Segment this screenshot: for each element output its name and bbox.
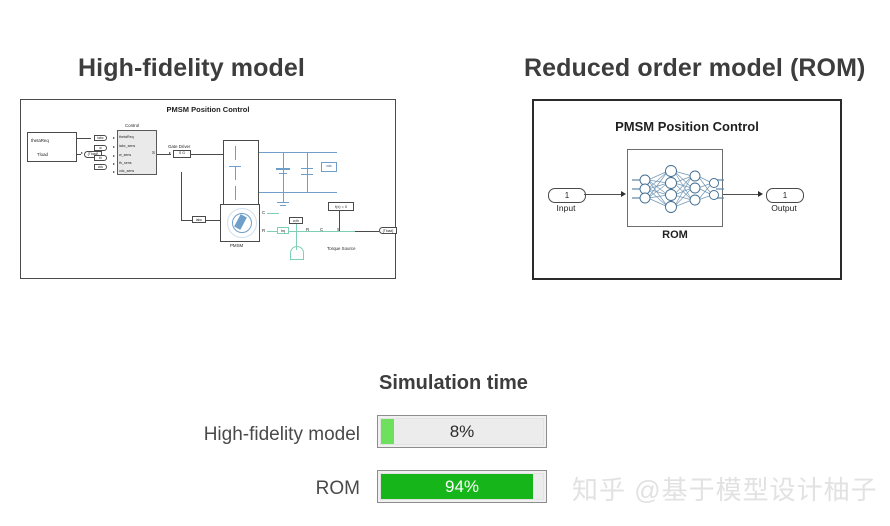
converter-switch-3	[235, 186, 236, 200]
arrow-ctrl-in-4	[113, 163, 115, 165]
progress-track-high-fidelity: 8%	[380, 418, 544, 445]
solver-configuration-block: f(x) = 0	[328, 202, 354, 211]
mechanical-reference	[290, 246, 304, 260]
converter-block	[223, 140, 259, 208]
sim-row-label-high-fidelity: High-fidelity model	[0, 424, 360, 446]
arrow-tload	[81, 152, 83, 154]
from-tag-iabc: iabc	[94, 135, 107, 141]
progress-track-rom: 94%	[380, 473, 544, 500]
from-tag-vdc: vdc	[94, 164, 107, 170]
control-out-label: S	[152, 150, 155, 155]
rom-wire-input	[584, 194, 622, 195]
control-in-label-1: thetaReq	[119, 135, 134, 139]
wire-solver-stem	[339, 211, 340, 231]
arrow-gate-in	[169, 152, 171, 154]
wire-tload	[77, 154, 81, 155]
iabc-tag: iabc	[192, 216, 206, 223]
progress-bar-rom[interactable]: 94%	[377, 470, 547, 503]
input-source-block	[27, 132, 77, 162]
arrow-ctrl-in-2	[113, 146, 115, 148]
wire-pmsm-r	[267, 231, 277, 232]
wire-phase-down	[181, 172, 182, 220]
wire-to-out-tag	[355, 231, 379, 232]
wire-control-to-gate	[157, 154, 171, 155]
dcbus-bottom	[259, 192, 337, 193]
wire-gate-to-converter	[191, 154, 223, 155]
rom-output-port: 1	[766, 188, 804, 203]
progress-value-high-fidelity: 8%	[381, 419, 543, 444]
control-label: Control	[125, 123, 139, 128]
rom-block-label: ROM	[627, 229, 723, 241]
torque-source-label: Torque Source	[327, 246, 355, 251]
control-in-label-5: vdc_sens	[119, 169, 134, 173]
gate-driver-label: Gate Driver	[168, 144, 190, 149]
wire-pmsm-c	[267, 213, 279, 214]
control-in-label-3: w_sens	[119, 153, 131, 157]
progress-bar-high-fidelity[interactable]: 8%	[377, 415, 547, 448]
capacitor-branch	[307, 152, 308, 192]
wire-thetareq	[77, 138, 91, 139]
pmsm-label: PMSM	[230, 243, 243, 248]
control-in-label-2: iabc_sens	[119, 144, 135, 148]
converter-crossbar	[229, 166, 241, 167]
pmsm-port-r: R	[262, 228, 265, 233]
rom-arrow-input	[621, 191, 626, 197]
hifi-diagram-title: PMSM Position Control	[21, 105, 395, 114]
torque-port-c1: C	[320, 227, 323, 232]
high-fidelity-diagram: PMSM Position Control thetaReq Tload {Tl…	[20, 99, 396, 279]
sim-row-label-rom: ROM	[0, 478, 360, 500]
rom-diagram: PMSM Position Control 1 Input	[532, 99, 842, 280]
rom-output-caption: Output	[760, 203, 808, 213]
trq-tag: trq	[277, 227, 289, 234]
simulation-time-heading: Simulation time	[379, 372, 528, 395]
tload-label: Tload	[37, 152, 48, 157]
arrow-ctrl-in-1	[113, 137, 115, 139]
battery-plate-short	[279, 173, 287, 174]
neural-network-icon	[628, 150, 724, 228]
ground-bar-1	[277, 202, 289, 203]
thetareq-label: thetaReq	[31, 138, 49, 143]
watermark: 知乎 @基于模型设计柚子	[572, 470, 878, 507]
converter-switch-2	[235, 166, 236, 180]
pmsm-port-c: C	[262, 210, 265, 215]
dcbus-top	[259, 152, 337, 153]
capacitor-plate-top	[301, 168, 313, 169]
arrow-ctrl-in-3	[113, 155, 115, 157]
wth-tag: w,th	[289, 217, 303, 224]
arrow-ctrl-in-5	[113, 171, 115, 173]
wire-iabc-to-pmsm	[206, 220, 220, 221]
ground-bar-2	[280, 205, 286, 206]
progress-value-rom: 94%	[381, 474, 543, 499]
rom-block	[627, 149, 723, 227]
ground-stem	[283, 192, 284, 202]
rom-input-caption: Input	[542, 203, 590, 213]
rom-input-port: 1	[548, 188, 586, 203]
page-title-high-fidelity: High-fidelity model	[78, 54, 305, 83]
battery-plate-long	[276, 168, 290, 170]
torque-port-r1: R	[306, 227, 309, 232]
control-in-label-4: th_sens	[119, 161, 132, 165]
gate-driver-block: S G	[173, 150, 191, 158]
page-title-reduced-order-model: Reduced order model (ROM)	[524, 54, 865, 83]
from-tag-w: w	[94, 145, 107, 151]
rom-arrow-output	[758, 191, 763, 197]
tload-goto-tag: {Tload}	[379, 227, 397, 234]
from-tag-th: th	[94, 155, 107, 161]
rom-diagram-title: PMSM Position Control	[534, 119, 840, 134]
battery-branch	[283, 152, 284, 192]
rom-wire-output	[723, 194, 759, 195]
converter-switch-1	[235, 146, 236, 160]
capacitor-plate-bottom	[301, 174, 313, 175]
vdc-sensor-block: vdc	[321, 162, 337, 172]
